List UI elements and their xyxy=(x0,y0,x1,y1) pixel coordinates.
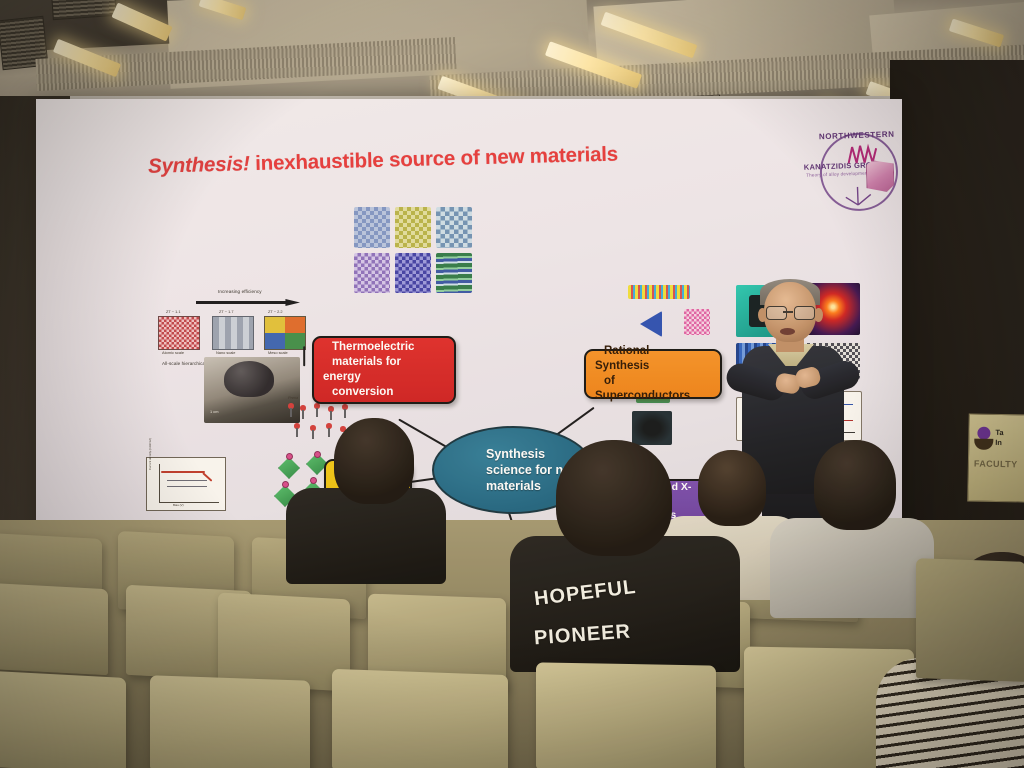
connector-line xyxy=(303,346,305,366)
efficiency-arrow-label: Increasing efficiency xyxy=(218,289,262,294)
crystal-thumb-nano xyxy=(212,316,254,350)
northwestern-kanatzidis-logo: NORTHWESTERN KANATZIDIS GROUP Theory of … xyxy=(801,129,902,217)
lecture-hall-scene: Synthesis! inexhaustible source of new m… xyxy=(0,0,1024,768)
jv-curve-chart: Current density (mA/cm2) Bias (V) xyxy=(146,457,226,511)
crystal-cell xyxy=(436,253,472,294)
callout-superconductors[interactable]: Rational Synthesisof Superconductors xyxy=(584,349,722,399)
logo-arc-text: NORTHWESTERN xyxy=(813,129,901,141)
poster-line-1: Ta xyxy=(995,428,1003,437)
logo-axes-icon xyxy=(842,180,873,207)
glasses-icon xyxy=(794,306,815,320)
crystal-thumb-atomic xyxy=(158,316,200,350)
auditorium-chair[interactable] xyxy=(218,593,350,692)
zt-label-low: ZT ~ 1.1 xyxy=(166,309,181,314)
zt-label-high: ZT ~ 2.2 xyxy=(268,309,283,314)
auditorium-chair[interactable] xyxy=(0,670,126,768)
crystal-cell xyxy=(354,207,390,248)
audience-head xyxy=(814,440,896,530)
callout-superconductors-label: Rational Synthesisof Superconductors xyxy=(586,344,720,405)
jacket-text-line-2: PIONEER xyxy=(533,621,631,651)
chart-ylabel: Current density (mA/cm2) xyxy=(148,430,152,470)
poster-line-2: In xyxy=(995,438,1002,447)
audience-head xyxy=(556,440,672,556)
callout-thermoelectric[interactable]: Thermoelectricmaterials for energyconver… xyxy=(312,336,456,404)
auditorium-chair[interactable] xyxy=(332,669,508,768)
spectrum-strip xyxy=(628,285,690,299)
audience-member-2-hopeful-pioneer: HOPEFUL PIONEER xyxy=(520,440,720,640)
scale-label-meso: Meso scale xyxy=(268,350,288,355)
scale-label-nano: Nano scale xyxy=(216,350,235,355)
audience-member-1 xyxy=(286,418,446,568)
crystal-thumb-meso xyxy=(264,316,306,350)
slide-title: Synthesis! inexhaustible source of new m… xyxy=(148,139,748,179)
auditorium-chair[interactable] xyxy=(536,662,716,768)
audience-member-5 xyxy=(780,440,920,590)
audience-jacket: HOPEFUL PIONEER xyxy=(510,536,740,672)
speaker-mouth xyxy=(780,328,795,335)
scale-label-atomic: Atomic scale xyxy=(162,350,184,355)
scale-bar-label: 1 cm xyxy=(210,409,218,414)
auditorium-chair[interactable] xyxy=(0,583,108,675)
crystal-cell xyxy=(395,253,431,294)
audience-torso xyxy=(770,518,934,618)
crystal-cell xyxy=(436,207,472,248)
arrow-panel xyxy=(640,311,662,337)
zt-label-mid: ZT ~ 1.7 xyxy=(219,309,234,314)
auditorium-chair[interactable] xyxy=(916,558,1024,682)
ingot-shape xyxy=(224,361,274,397)
faculty-poster: Ta In FACULTY xyxy=(967,413,1024,502)
crystal-cell xyxy=(395,207,431,248)
crystal-cell xyxy=(354,253,390,294)
jacket-text-line-1: HOPEFUL xyxy=(533,576,638,611)
structure-panel xyxy=(684,309,710,335)
poster-footer: FACULTY xyxy=(974,459,1018,470)
slide-title-emphasis: Synthesis! xyxy=(148,152,250,178)
audience-head xyxy=(334,418,414,504)
hand-icon xyxy=(974,439,993,450)
glasses-icon xyxy=(766,306,787,320)
crystal-structures-grid xyxy=(354,207,472,293)
chart-xlabel: Bias (V) xyxy=(173,503,184,507)
slide-title-rest: inexhaustible source of new materials xyxy=(249,143,618,176)
auditorium-chair[interactable] xyxy=(150,675,310,768)
callout-thermoelectric-label: Thermoelectricmaterials for energyconver… xyxy=(314,340,454,401)
increasing-efficiency-arrow-icon xyxy=(196,299,300,306)
